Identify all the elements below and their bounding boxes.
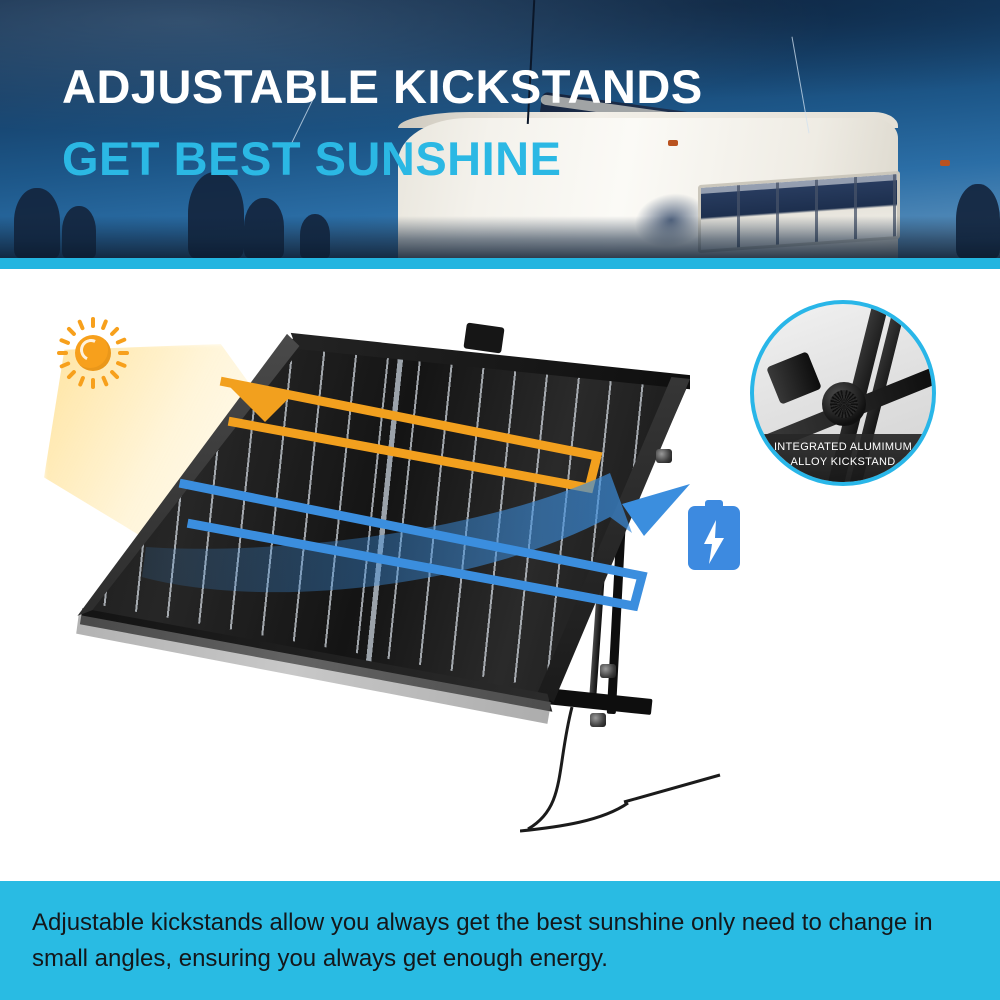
horizon-ridge	[0, 216, 1000, 258]
kickstand-detail-inset: INTEGRATED ALUMIMUM ALLOY KICKSTAND	[750, 300, 936, 486]
inset-caption-line-1: INTEGRATED ALUMIMUM	[754, 440, 932, 455]
battery-charging-icon	[688, 500, 740, 570]
inset-end-cap	[766, 351, 822, 405]
lightning-bolt-icon	[702, 520, 726, 564]
hero-banner: ADJUSTABLE KICKSTANDS GET BEST SUNSHINE	[0, 0, 1000, 258]
footer-text: Adjustable kickstands allow you always g…	[32, 905, 972, 976]
rv-marker-light	[668, 140, 678, 146]
footer-caption-bar: Adjustable kickstands allow you always g…	[0, 881, 1000, 1000]
inset-caption-line-2: ALLOY KICKSTAND	[754, 455, 932, 470]
inset-caption: INTEGRATED ALUMIMUM ALLOY KICKSTAND	[754, 434, 932, 482]
panel-hinge	[463, 322, 504, 353]
accent-divider	[0, 258, 1000, 269]
illustration-stage: θ Summer θ = Latitude − 15° Fall and Spr…	[0, 269, 1000, 881]
hero-subtitle: GET BEST SUNSHINE	[62, 134, 561, 183]
battery-body	[688, 506, 740, 570]
inset-pivot-knob	[822, 382, 866, 426]
tilt-angle-arc	[520, 699, 760, 869]
product-feature-card: ADJUSTABLE KICKSTANDS GET BEST SUNSHINE	[0, 0, 1000, 1000]
energy-out-arrow	[170, 444, 690, 619]
hero-title: ADJUSTABLE KICKSTANDS	[62, 62, 703, 111]
rv-marker-light	[940, 160, 950, 166]
panel-bolt	[600, 664, 616, 678]
